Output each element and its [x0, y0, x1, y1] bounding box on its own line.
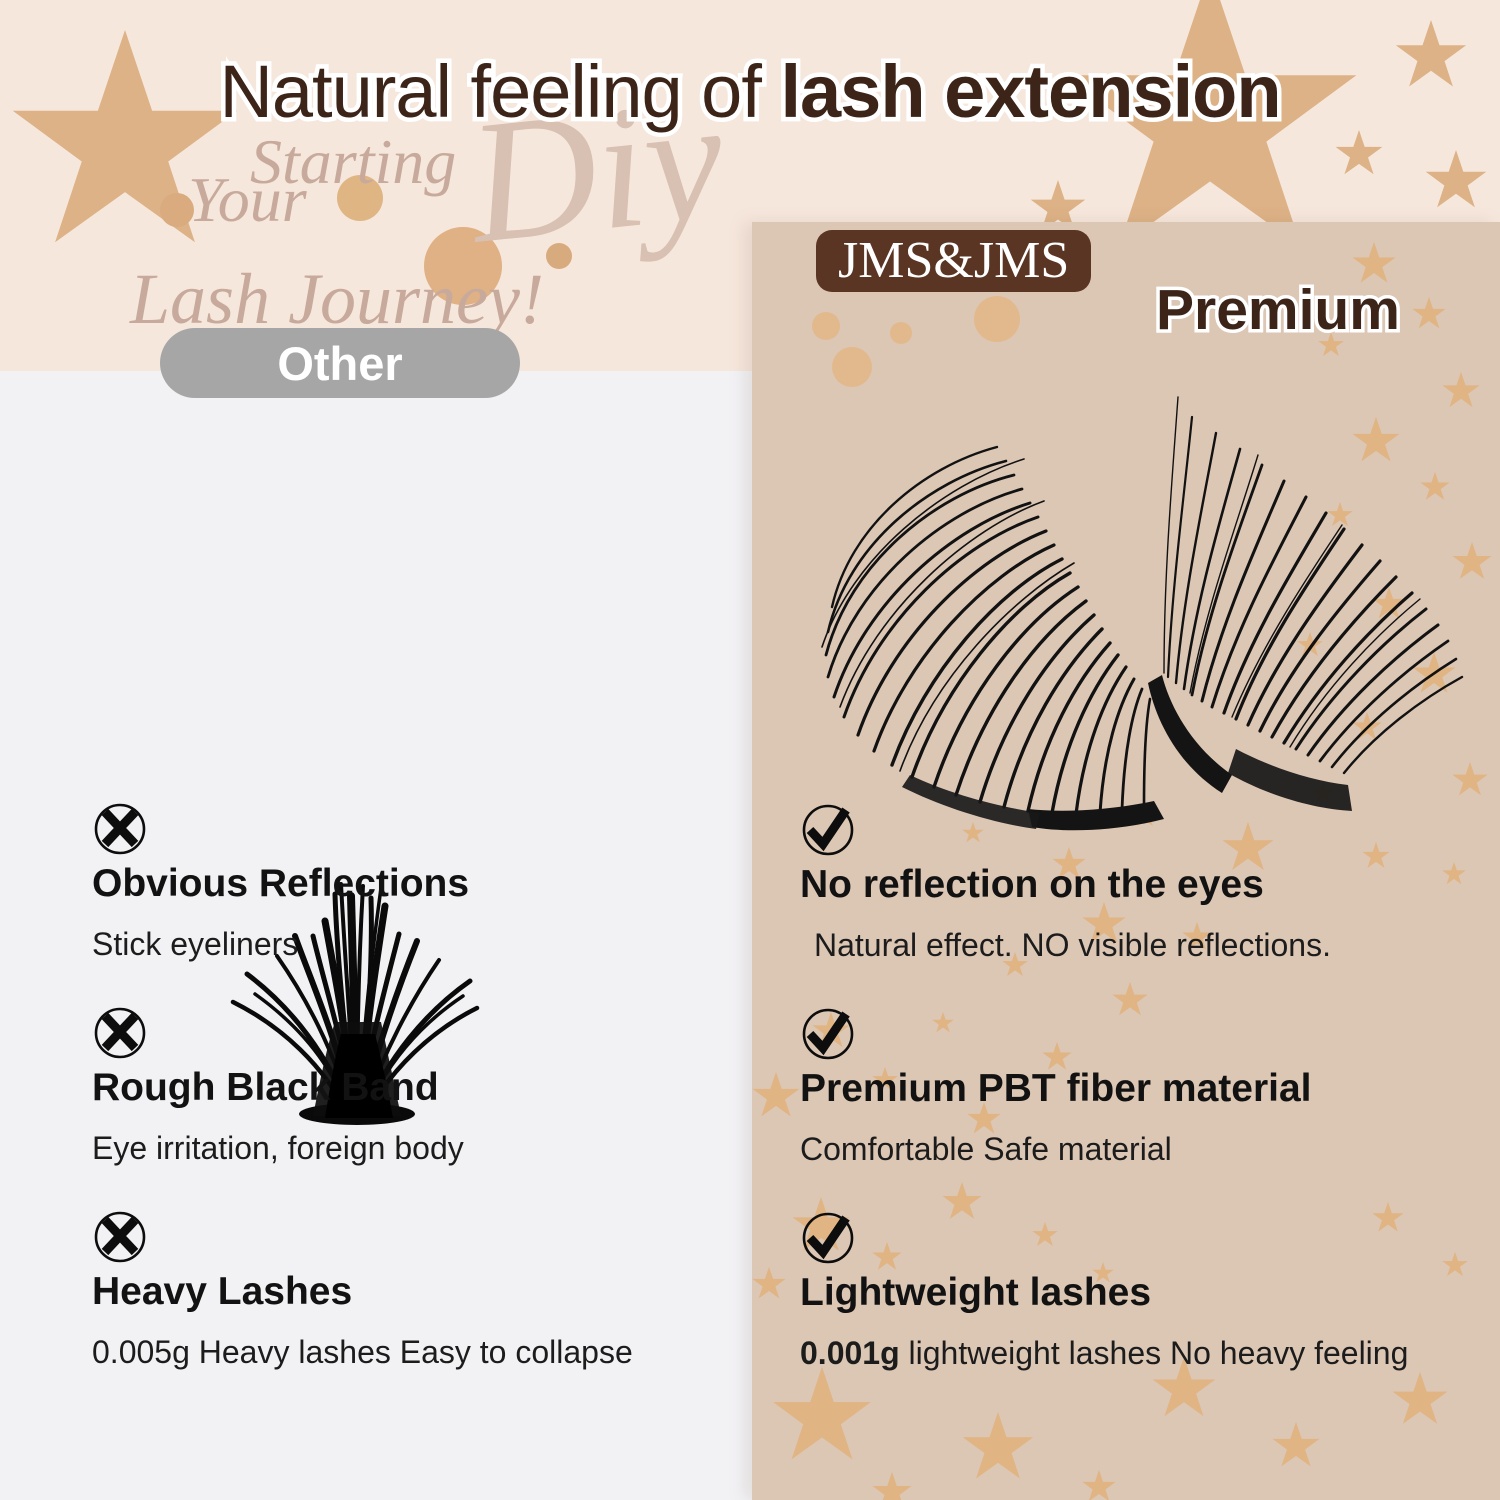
script-line-your: Your — [188, 163, 307, 237]
decorative-star — [1392, 1372, 1448, 1428]
premium-column-panel: JMS&JMS Premium — [752, 222, 1500, 1500]
decorative-star — [1335, 130, 1383, 178]
badge-other-label: Other — [277, 340, 402, 387]
page-title: Natural feeling of lash extension — [0, 55, 1500, 129]
decorative-star — [962, 1412, 1034, 1484]
headline-normal: Natural feeling of — [219, 50, 780, 133]
premium-label: Premium — [1156, 277, 1400, 343]
decorative-star — [932, 1012, 954, 1034]
decorative-star — [772, 1367, 872, 1467]
feature-subtitle: Comfortable Safe material — [800, 1132, 1172, 1167]
feature-subtitle: Eye irritation, foreign body — [92, 1131, 464, 1166]
feature-title: Obvious Reflections — [92, 863, 469, 906]
decorative-star — [1082, 1470, 1116, 1500]
decorative-star — [942, 1182, 982, 1222]
badge-other: Other — [160, 328, 520, 398]
decorative-star — [1442, 862, 1466, 886]
decorative-star — [1442, 1252, 1468, 1278]
premium-lash-image — [792, 377, 1472, 847]
feature-title: Heavy Lashes — [92, 1271, 352, 1314]
feature-subtitle-weight: 0.001g — [800, 1335, 900, 1371]
decorative-star — [752, 1267, 786, 1301]
decorative-dot — [974, 296, 1020, 342]
brand-badge: JMS&JMS — [816, 230, 1091, 292]
brand-name: JMS&JMS — [838, 235, 1069, 287]
check-circle-icon — [800, 802, 856, 858]
decorative-star — [1032, 1222, 1058, 1248]
decorative-star — [872, 1472, 912, 1500]
feature-subtitle: Natural effect. NO visible reflections. — [814, 928, 1331, 963]
decorative-star — [1272, 1422, 1320, 1470]
decorative-star — [1112, 982, 1148, 1018]
decorative-star — [1412, 297, 1446, 331]
decorative-dot — [812, 312, 840, 340]
feature-title: Premium PBT fiber material — [800, 1068, 1312, 1111]
infographic-canvas: Diy Starting Your Lash Journey! Natural … — [0, 0, 1500, 1500]
feature-title: Rough Black Band — [92, 1067, 439, 1110]
headline-bold: lash extension — [780, 50, 1280, 133]
cross-circle-icon — [92, 1209, 148, 1265]
cross-circle-icon — [92, 801, 148, 857]
feature-subtitle: Stick eyeliners — [92, 927, 298, 962]
decorative-star — [752, 1072, 800, 1120]
decorative-dot — [890, 322, 912, 344]
cross-circle-icon — [92, 1005, 148, 1061]
check-circle-icon — [800, 1210, 856, 1266]
decorative-star — [872, 1242, 902, 1272]
other-column-panel: Other — [0, 371, 752, 1500]
feature-title: Lightweight lashes — [800, 1272, 1151, 1315]
check-circle-icon — [800, 1006, 856, 1062]
decorative-star — [1372, 1202, 1404, 1234]
feature-subtitle-group: 0.001g lightweight lashes No heavy feeli… — [800, 1336, 1408, 1371]
decorative-star — [1425, 150, 1487, 212]
feature-subtitle: 0.005g Heavy lashes Easy to collapse — [92, 1335, 633, 1370]
feature-title: No reflection on the eyes — [800, 864, 1264, 907]
feature-subtitle: lightweight lashes No heavy feeling — [900, 1335, 1409, 1371]
